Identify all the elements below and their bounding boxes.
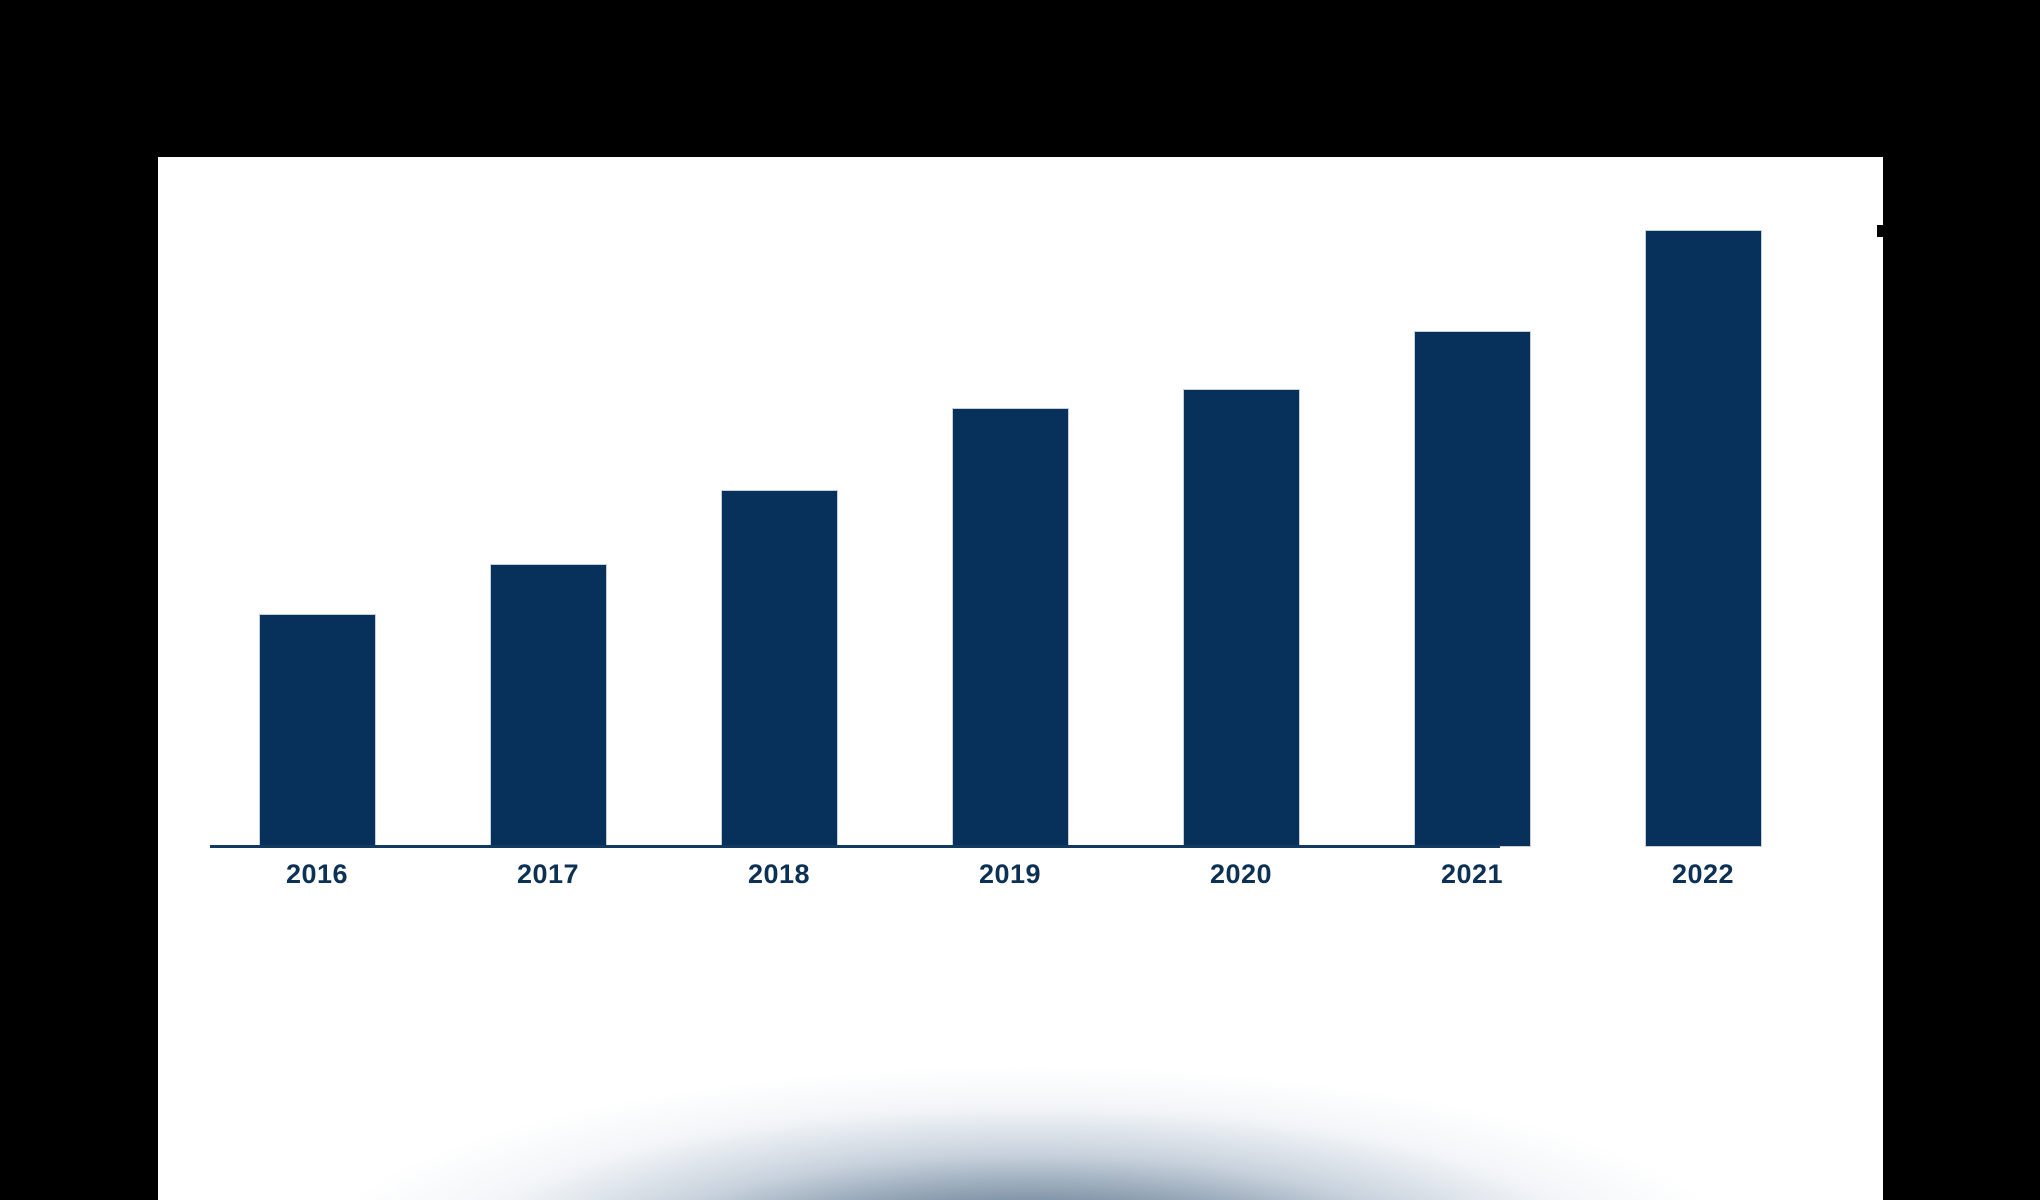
chart-plot-area (210, 157, 1883, 857)
x-tick-label-2016: 2016 (237, 859, 397, 890)
bar-2017[interactable] (491, 565, 606, 846)
x-tick-label-2022: 2022 (1623, 859, 1783, 890)
bar-2021[interactable] (1415, 332, 1530, 846)
bar-slot-2022 (1646, 157, 1761, 846)
x-tick-label-2021: 2021 (1392, 859, 1552, 890)
bar-slot-2016 (260, 157, 375, 846)
bar-slot-2017 (491, 157, 606, 846)
bar-2022[interactable] (1646, 231, 1761, 846)
x-tick-label-2018: 2018 (699, 859, 859, 890)
bar-2019[interactable] (953, 409, 1068, 846)
bar-2020[interactable] (1184, 390, 1299, 846)
chart-card: 2016 2017 2018 2019 2020 2021 2022 (158, 157, 1883, 1200)
screenshot-canvas: 2016 2017 2018 2019 2020 2021 2022 (0, 0, 2040, 1200)
bar-group (210, 157, 1883, 846)
x-tick-label-2017: 2017 (468, 859, 628, 890)
bar-2016[interactable] (260, 615, 375, 846)
bar-slot-2018 (722, 157, 837, 846)
bar-2018[interactable] (722, 491, 837, 846)
bar-slot-2021 (1415, 157, 1530, 846)
x-tick-label-2019: 2019 (930, 859, 1090, 890)
bar-slot-2020 (1184, 157, 1299, 846)
bar-slot-2019 (953, 157, 1068, 846)
x-tick-label-2020: 2020 (1161, 859, 1321, 890)
x-axis-line (210, 845, 1500, 848)
x-axis-tick-labels: 2016 2017 2018 2019 2020 2021 2022 (210, 859, 1883, 905)
